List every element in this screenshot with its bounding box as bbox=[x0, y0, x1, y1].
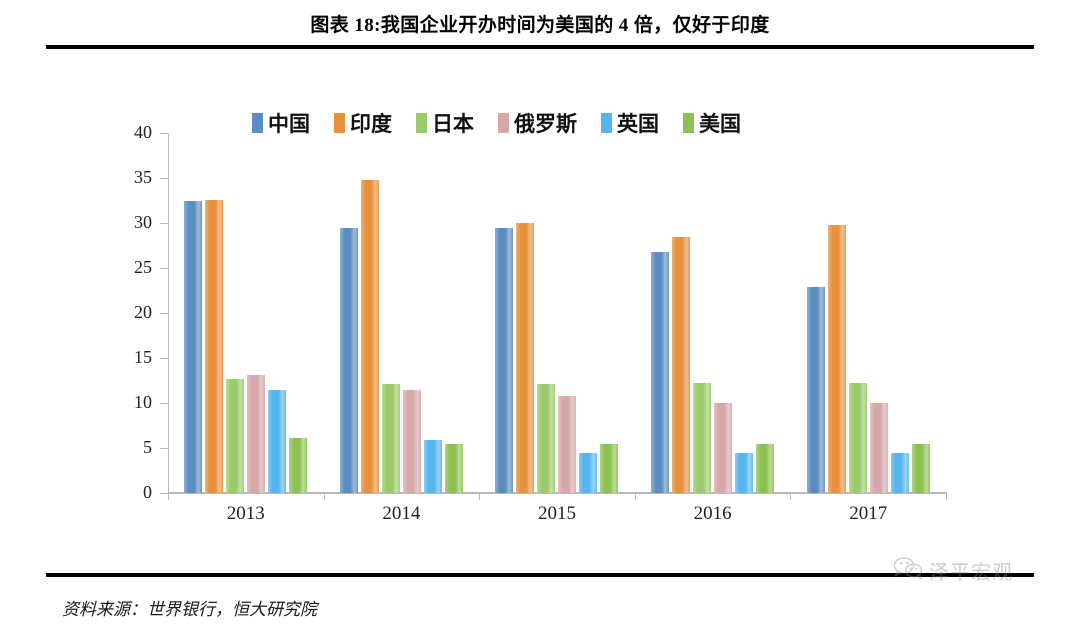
bar-group bbox=[324, 133, 480, 493]
bar[interactable] bbox=[651, 252, 669, 493]
y-axis-tick-label: 40 bbox=[110, 122, 152, 143]
watermark-text: 泽平宏观 bbox=[929, 556, 1013, 585]
y-axis-tick-label: 15 bbox=[110, 347, 152, 368]
bar-group bbox=[479, 133, 635, 493]
y-axis-tick-label: 35 bbox=[110, 167, 152, 188]
y-axis-tick-label: 20 bbox=[110, 302, 152, 323]
bar-group bbox=[168, 133, 324, 493]
y-axis-tick bbox=[160, 448, 168, 449]
x-axis-label: 2016 bbox=[643, 503, 783, 525]
bar[interactable] bbox=[226, 379, 244, 493]
bar[interactable] bbox=[382, 384, 400, 493]
y-axis-tick bbox=[160, 493, 168, 494]
bar-group bbox=[790, 133, 946, 493]
bar[interactable] bbox=[205, 200, 223, 493]
bar[interactable] bbox=[912, 444, 930, 494]
legend-swatch-icon bbox=[334, 113, 345, 133]
bar[interactable] bbox=[600, 444, 618, 494]
y-axis-tick bbox=[160, 313, 168, 314]
x-axis-tick bbox=[168, 492, 169, 500]
y-axis-tick bbox=[160, 403, 168, 404]
chart-area: 中国印度日本俄罗斯英国美国 0510152025303540 201320142… bbox=[0, 60, 1080, 560]
bar[interactable] bbox=[756, 444, 774, 494]
bar[interactable] bbox=[361, 180, 379, 493]
legend-swatch-icon bbox=[252, 113, 263, 133]
y-axis-tick-label: 25 bbox=[110, 257, 152, 278]
legend-swatch-icon bbox=[498, 113, 509, 133]
y-axis-tick bbox=[160, 358, 168, 359]
y-axis-tick bbox=[160, 133, 168, 134]
bar[interactable] bbox=[735, 453, 753, 494]
source-note: 资料来源：世界银行，恒大研究院 bbox=[62, 595, 317, 620]
x-axis-label: 2014 bbox=[331, 503, 471, 525]
x-axis-tick bbox=[946, 492, 947, 500]
bar[interactable] bbox=[445, 444, 463, 493]
bar[interactable] bbox=[268, 390, 286, 493]
bar[interactable] bbox=[870, 403, 888, 493]
y-axis-tick-label: 10 bbox=[110, 392, 152, 413]
bar[interactable] bbox=[579, 453, 597, 494]
legend-swatch-icon bbox=[416, 113, 427, 133]
bar[interactable] bbox=[403, 390, 421, 493]
bar[interactable] bbox=[693, 383, 711, 493]
bar[interactable] bbox=[891, 453, 909, 494]
bar[interactable] bbox=[495, 228, 513, 493]
x-axis-label: 2013 bbox=[176, 503, 316, 525]
y-axis-tick-label: 30 bbox=[110, 212, 152, 233]
bar[interactable] bbox=[828, 225, 846, 493]
bar[interactable] bbox=[558, 396, 576, 493]
y-axis-tick-label: 0 bbox=[110, 482, 152, 503]
x-axis-tick bbox=[790, 492, 791, 500]
bar[interactable] bbox=[672, 237, 690, 494]
bar[interactable] bbox=[714, 403, 732, 493]
page-title: 图表 18:我国企业开办时间为美国的 4 倍，仅好于印度 bbox=[0, 10, 1080, 37]
bar[interactable] bbox=[807, 287, 825, 493]
plot-bars bbox=[168, 133, 946, 493]
x-axis-label: 2015 bbox=[487, 503, 627, 525]
x-axis-tick bbox=[635, 492, 636, 500]
legend-swatch-icon bbox=[601, 113, 612, 133]
bar[interactable] bbox=[537, 384, 555, 493]
bar[interactable] bbox=[184, 201, 202, 493]
bar[interactable] bbox=[849, 383, 867, 493]
bar[interactable] bbox=[289, 438, 307, 493]
y-axis-tick bbox=[160, 223, 168, 224]
x-axis-tick bbox=[479, 492, 480, 500]
wechat-icon bbox=[893, 556, 923, 585]
bar[interactable] bbox=[516, 223, 534, 493]
header-rule bbox=[46, 45, 1034, 49]
y-axis-tick bbox=[160, 178, 168, 179]
bar-group bbox=[635, 133, 791, 493]
x-axis-label: 2017 bbox=[798, 503, 938, 525]
bar[interactable] bbox=[247, 375, 265, 493]
watermark: 泽平宏观 bbox=[893, 556, 1013, 585]
bar[interactable] bbox=[424, 440, 442, 493]
y-axis-tick bbox=[160, 268, 168, 269]
x-axis-tick bbox=[324, 492, 325, 500]
bar[interactable] bbox=[340, 228, 358, 494]
y-axis-tick-label: 5 bbox=[110, 437, 152, 458]
footer-rule bbox=[46, 573, 1034, 577]
legend-swatch-icon bbox=[683, 113, 694, 133]
